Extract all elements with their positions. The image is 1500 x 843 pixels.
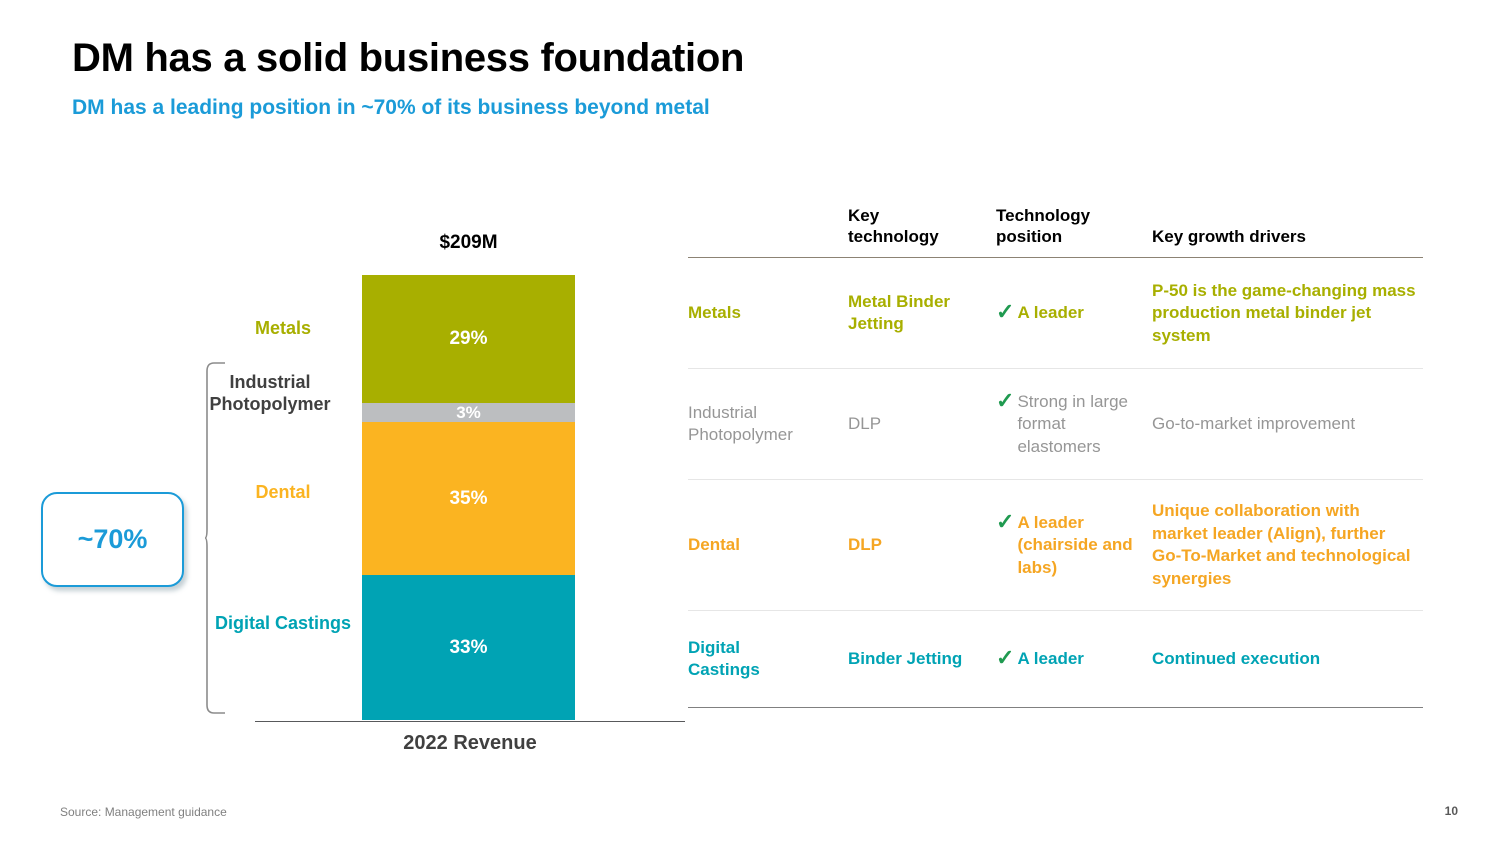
table-cell-technology-position-text: A leader xyxy=(1017,302,1083,325)
table-cell-technology-position-text: A leader (chairside and labs) xyxy=(1017,512,1146,580)
table-cell-key-technology: DLP xyxy=(848,413,996,436)
check-icon: ✓ xyxy=(996,511,1014,533)
bar-segment-digital-castings: 33% xyxy=(362,575,575,720)
table-header-key-growth-drivers: Key growth drivers xyxy=(1152,227,1423,248)
check-icon: ✓ xyxy=(996,301,1014,323)
table-cell-key-technology: DLP xyxy=(848,534,996,557)
table-row: Digital Castings Binder Jetting ✓ A lead… xyxy=(688,611,1423,707)
technology-position-table: Key technology Technology position Key g… xyxy=(688,206,1423,708)
check-icon: ✓ xyxy=(996,390,1014,412)
table-cell-technology-position: ✓ A leader xyxy=(996,302,1152,325)
stacked-bar: 29% 3% 35% 33% xyxy=(362,275,575,720)
table-cell-key-technology: Binder Jetting xyxy=(848,648,996,671)
chart-category-label-metals: Metals xyxy=(208,318,358,340)
table-row: Dental DLP ✓ A leader (chairside and lab… xyxy=(688,480,1423,610)
table-cell-segment: Industrial Photopolymer xyxy=(688,402,848,447)
chart-axis-line xyxy=(255,721,685,722)
table-cell-technology-position: ✓ A leader xyxy=(996,648,1152,671)
chart-category-label-dental: Dental xyxy=(208,482,358,504)
bar-segment-metals: 29% xyxy=(362,275,575,403)
page-title: DM has a solid business foundation xyxy=(72,36,744,81)
table-cell-segment: Dental xyxy=(688,534,848,557)
table-cell-technology-position: ✓ A leader (chairside and labs) xyxy=(996,512,1152,580)
check-icon: ✓ xyxy=(996,647,1014,669)
table-cell-key-growth-drivers: Unique collaboration with market leader … xyxy=(1152,500,1423,590)
table-header-technology-position-line2: position xyxy=(996,227,1062,246)
chart-total-label: $209M xyxy=(362,232,575,254)
table-cell-segment-line1: Digital xyxy=(688,638,740,657)
table-bottom-divider xyxy=(688,707,1423,708)
table-cell-key-growth-drivers: Go-to-market improvement xyxy=(1152,413,1423,436)
table-cell-technology-position-text: A leader xyxy=(1017,648,1083,671)
bar-segment-industrial-photopolymer: 3% xyxy=(362,403,575,422)
table-cell-technology-position-text: Strong in large format elastomers xyxy=(1017,391,1146,459)
table-cell-technology-position: ✓ Strong in large format elastomers xyxy=(996,391,1152,459)
table-cell-segment-line1: Industrial xyxy=(688,403,757,422)
table-cell-segment-line2: Castings xyxy=(688,660,760,679)
slide-root: DM has a solid business foundation DM ha… xyxy=(0,0,1500,843)
table-row: Industrial Photopolymer DLP ✓ Strong in … xyxy=(688,369,1423,479)
chart-axis-label: 2022 Revenue xyxy=(255,732,685,755)
table-cell-segment: Metals xyxy=(688,302,848,325)
table-cell-key-growth-drivers: Continued execution xyxy=(1152,648,1423,671)
table-row: Metals Metal Binder Jetting ✓ A leader P… xyxy=(688,258,1423,368)
table-header-key-technology-line2: technology xyxy=(848,227,939,246)
table-cell-segment-line2: Photopolymer xyxy=(688,425,793,444)
table-cell-segment: Digital Castings xyxy=(688,637,848,682)
seventy-percent-callout: ~70% xyxy=(41,492,184,587)
callout-value: ~70% xyxy=(78,524,148,555)
table-header-technology-position: Technology position xyxy=(996,206,1152,247)
grouping-bracket-icon xyxy=(204,362,226,714)
table-cell-key-growth-drivers: P-50 is the game-changing mass productio… xyxy=(1152,280,1423,348)
source-note: Source: Management guidance xyxy=(60,805,227,819)
table-header-technology-position-line1: Technology xyxy=(996,206,1090,225)
chart-category-label-digital-castings: Digital Castings xyxy=(208,613,358,635)
page-number: 10 xyxy=(1445,804,1458,818)
bar-segment-dental: 35% xyxy=(362,422,575,575)
table-cell-key-technology: Metal Binder Jetting xyxy=(848,291,996,336)
page-subtitle: DM has a leading position in ~70% of its… xyxy=(72,96,710,120)
table-header-row: Key technology Technology position Key g… xyxy=(688,206,1423,257)
table-header-key-technology: Key technology xyxy=(848,206,996,247)
table-header-key-technology-line1: Key xyxy=(848,206,879,225)
